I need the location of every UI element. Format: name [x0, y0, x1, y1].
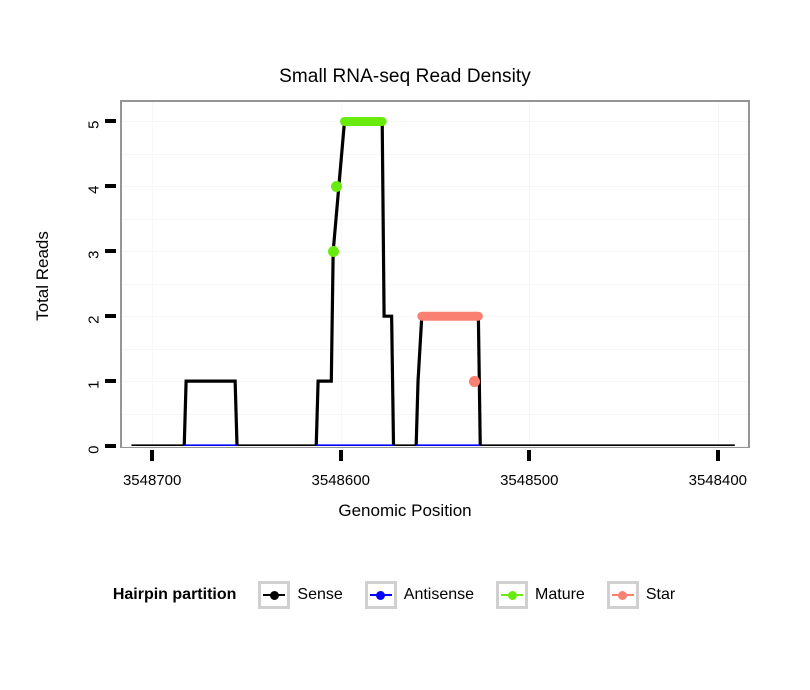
series-line-sense: [131, 121, 734, 446]
y-tick-mark: [105, 444, 116, 448]
x-tick-label: 3548500: [469, 472, 589, 489]
chart-title: Small RNA-seq Read Density: [0, 66, 810, 88]
legend-key-antisense: [365, 581, 397, 609]
y-tick-label: 1: [86, 381, 103, 411]
plot-panel: [120, 100, 750, 448]
legend-item-sense[interactable]: Sense: [258, 581, 358, 609]
legend-key-dot: [618, 591, 627, 600]
legend-item-antisense[interactable]: Antisense: [365, 581, 490, 609]
y-tick-mark: [105, 249, 116, 253]
y-tick-label: 4: [86, 186, 103, 216]
grid-line-horizontal: [122, 446, 748, 447]
legend-label: Sense: [297, 586, 342, 604]
legend-key-star: [607, 581, 639, 609]
x-tick-mark: [339, 450, 343, 461]
legend-items: SenseAntisenseMatureStar: [258, 581, 697, 609]
chart-legend: Hairpin partition SenseAntisenseMatureSt…: [0, 578, 810, 612]
y-tick-label: 3: [86, 251, 103, 281]
y-tick-label: 5: [86, 121, 103, 151]
legend-label: Antisense: [404, 586, 474, 604]
y-axis-label-text: Total Reads: [33, 231, 53, 321]
legend-key-dot: [270, 591, 279, 600]
legend-item-star[interactable]: Star: [607, 581, 691, 609]
legend-key-sense: [258, 581, 290, 609]
plot-area: [122, 102, 748, 446]
y-tick-mark: [105, 184, 116, 188]
y-axis-label: Total Reads: [31, 166, 55, 386]
x-tick-label: 3548700: [92, 472, 212, 489]
y-tick-mark: [105, 119, 116, 123]
x-tick-mark: [150, 450, 154, 461]
legend-key-dot: [508, 591, 517, 600]
series-point-mature: [328, 246, 339, 257]
legend-key-dot: [376, 591, 385, 600]
legend-key-mature: [496, 581, 528, 609]
legend-label: Mature: [535, 586, 585, 604]
y-tick-label: 0: [86, 446, 103, 476]
legend-item-mature[interactable]: Mature: [496, 581, 601, 609]
x-axis-label: Genomic Position: [0, 501, 810, 521]
legend-label: Star: [646, 586, 675, 604]
x-tick-label: 3548600: [281, 472, 401, 489]
x-tick-mark: [716, 450, 720, 461]
y-tick-mark: [105, 314, 116, 318]
series-point-star: [469, 376, 480, 387]
y-tick-label: 2: [86, 316, 103, 346]
x-tick-label: 3548400: [658, 472, 778, 489]
y-tick-mark: [105, 379, 116, 383]
x-tick-mark: [527, 450, 531, 461]
chart-page: Small RNA-seq Read Density Total Reads G…: [0, 0, 810, 690]
legend-title: Hairpin partition: [113, 586, 237, 604]
